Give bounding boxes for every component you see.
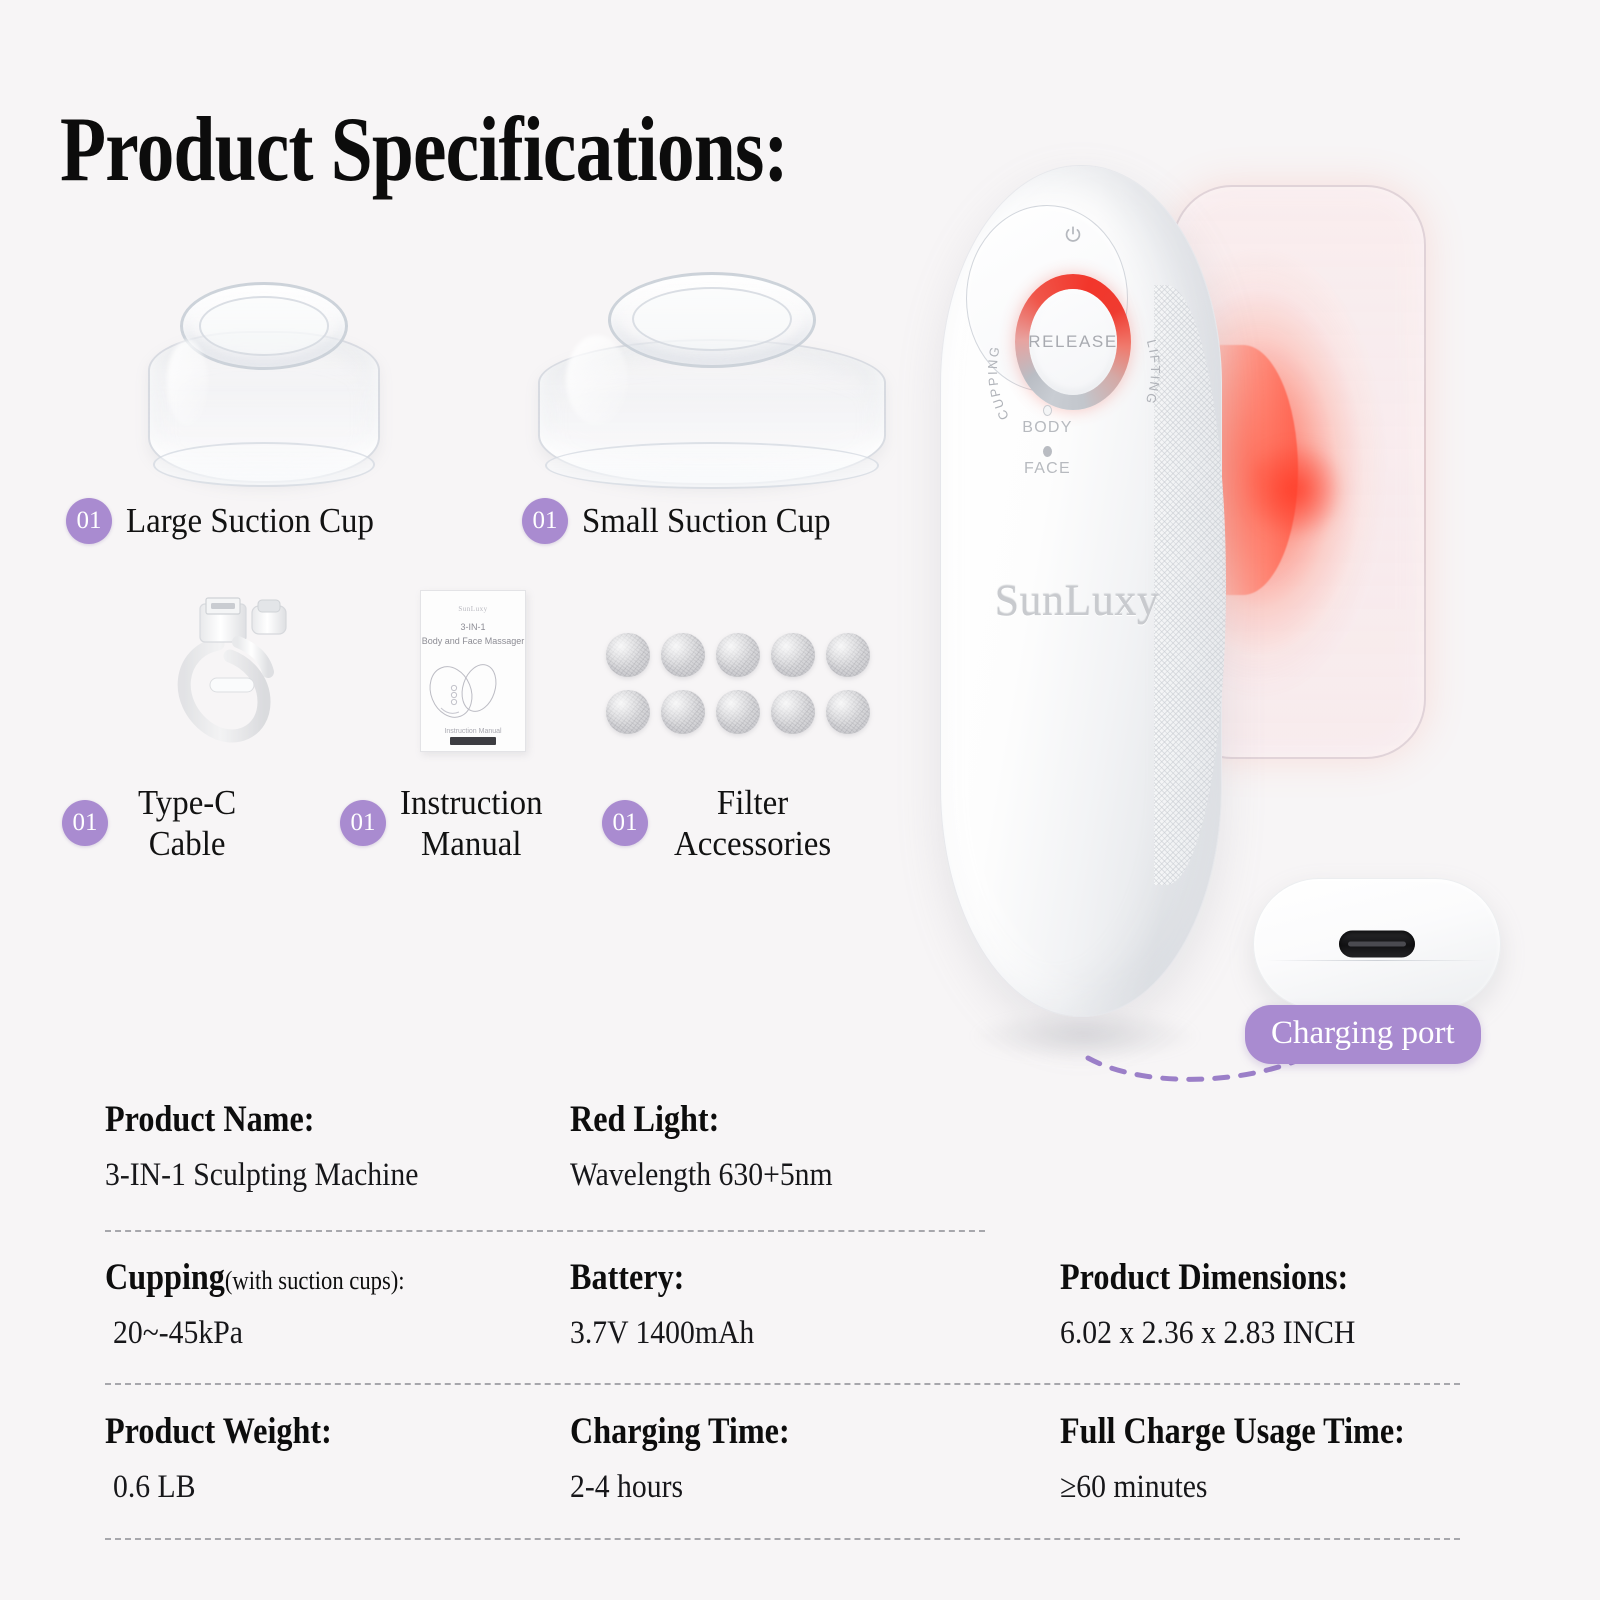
product-specifications-page: Product Specifications: 01 Large Suction…	[0, 0, 1600, 1600]
body-mode-led	[1043, 405, 1052, 416]
manual-booklet-icon: SunLuxy 3-IN-1 Body and Face Massager In…	[420, 590, 526, 752]
charging-port-module	[1253, 878, 1501, 1010]
accessory-label-line1: Type-C	[138, 782, 236, 823]
device-brand-logo: SunLuxy	[962, 575, 1192, 626]
usb-cable-icon	[160, 582, 300, 757]
spec-divider	[105, 1230, 985, 1232]
spec-cell-dimensions: Product Dimensions: 6.02 x 2.36 x 2.83 I…	[1060, 1256, 1510, 1352]
spec-cell-cupping: Cupping(with suction cups): 20~-45kPa	[105, 1256, 555, 1352]
spec-cell-charging-time: Charging Time: 2-4 hours	[570, 1410, 1020, 1506]
control-dial[interactable]: RELEASE CUPPING LIFTING	[966, 205, 1128, 392]
accessory-small-suction-cup: 01 Small Suction Cup	[522, 498, 846, 544]
spec-label: Full Charge Usage Time:	[1060, 1410, 1478, 1453]
spec-value: 6.02 x 2.36 x 2.83 INCH	[1060, 1315, 1465, 1352]
spec-label: Product Weight:	[105, 1410, 497, 1453]
filter-pads-icon	[606, 633, 870, 734]
spec-value: ≥60 minutes	[1060, 1469, 1492, 1506]
accessory-qty-badge: 01	[62, 800, 108, 846]
accessory-label-line2: Cable	[138, 823, 236, 864]
red-light-glow	[1240, 445, 1350, 535]
spec-label: Battery:	[570, 1256, 962, 1299]
spec-value: 20~-45kPa	[113, 1315, 511, 1352]
accessory-qty-badge: 01	[522, 498, 568, 544]
mode-indicators: BODY FACE	[970, 405, 1125, 487]
spec-cell-battery: Battery: 3.7V 1400mAh	[570, 1256, 1020, 1352]
accessory-instruction-manual: 01 Instruction Manual	[340, 782, 552, 865]
accessory-label: Large Suction Cup	[126, 500, 374, 541]
spec-label: Product Dimensions:	[1060, 1256, 1452, 1299]
spec-cell-usage-time: Full Charge Usage Time: ≥60 minutes	[1060, 1410, 1540, 1506]
manual-title-line1: 3-IN-1	[421, 622, 525, 632]
manual-footer: Instruction Manual	[421, 728, 525, 735]
spec-cell-product-name: Product Name: 3-IN-1 Sculpting Machine	[105, 1098, 555, 1194]
accessory-qty-badge: 01	[340, 800, 386, 846]
spec-label: Red Light:	[570, 1098, 962, 1141]
spec-cell-red-light: Red Light: Wavelength 630+5nm	[570, 1098, 1020, 1194]
spec-label: Charging Time:	[570, 1410, 962, 1453]
usb-c-port-icon	[1339, 931, 1415, 958]
accessory-qty-badge: 01	[602, 800, 648, 846]
spec-divider	[105, 1383, 1460, 1385]
page-title: Product Specifications:	[60, 96, 788, 202]
charging-port-callout: Charging port	[1245, 1005, 1481, 1064]
accessory-label-line1: Filter	[674, 782, 831, 823]
large-suction-cup-icon	[148, 278, 380, 483]
accessory-label-line2: Accessories	[674, 823, 831, 864]
spec-label: Product Name:	[105, 1098, 497, 1141]
face-mode-led	[1043, 446, 1052, 457]
spec-value: 2-4 hours	[570, 1469, 975, 1506]
spec-value: 3.7V 1400mAh	[570, 1315, 975, 1352]
manual-brand: SunLuxy	[421, 605, 525, 613]
manual-cover-illustration	[421, 658, 507, 722]
accessory-filter-accessories: 01 Filter Accessories	[602, 782, 841, 865]
body-mode-label: BODY	[970, 419, 1125, 437]
accessory-type-c-cable: 01 Type-C Cable	[62, 782, 242, 865]
spec-label: Cupping(with suction cups):	[105, 1256, 497, 1299]
spec-value: 3-IN-1 Sculpting Machine	[105, 1157, 510, 1194]
accessory-large-suction-cup: 01 Large Suction Cup	[66, 498, 390, 544]
dial-right-label: LIFTING	[1142, 338, 1162, 407]
spec-value: 0.6 LB	[113, 1469, 511, 1506]
manual-title-line2: Body and Face Massager	[421, 636, 525, 646]
spec-cell-weight: Product Weight: 0.6 LB	[105, 1410, 555, 1506]
small-suction-cup-icon	[538, 270, 886, 485]
accessory-qty-badge: 01	[66, 498, 112, 544]
port-seam	[1266, 960, 1488, 961]
accessory-label: Small Suction Cup	[582, 500, 831, 541]
face-mode-label: FACE	[970, 460, 1125, 478]
accessory-label-line2: Manual	[400, 823, 543, 864]
accessory-label-line1: Instruction	[400, 782, 543, 823]
manual-barcode	[450, 737, 496, 745]
spec-value: Wavelength 630+5nm	[570, 1157, 975, 1194]
spec-divider	[105, 1538, 1460, 1540]
